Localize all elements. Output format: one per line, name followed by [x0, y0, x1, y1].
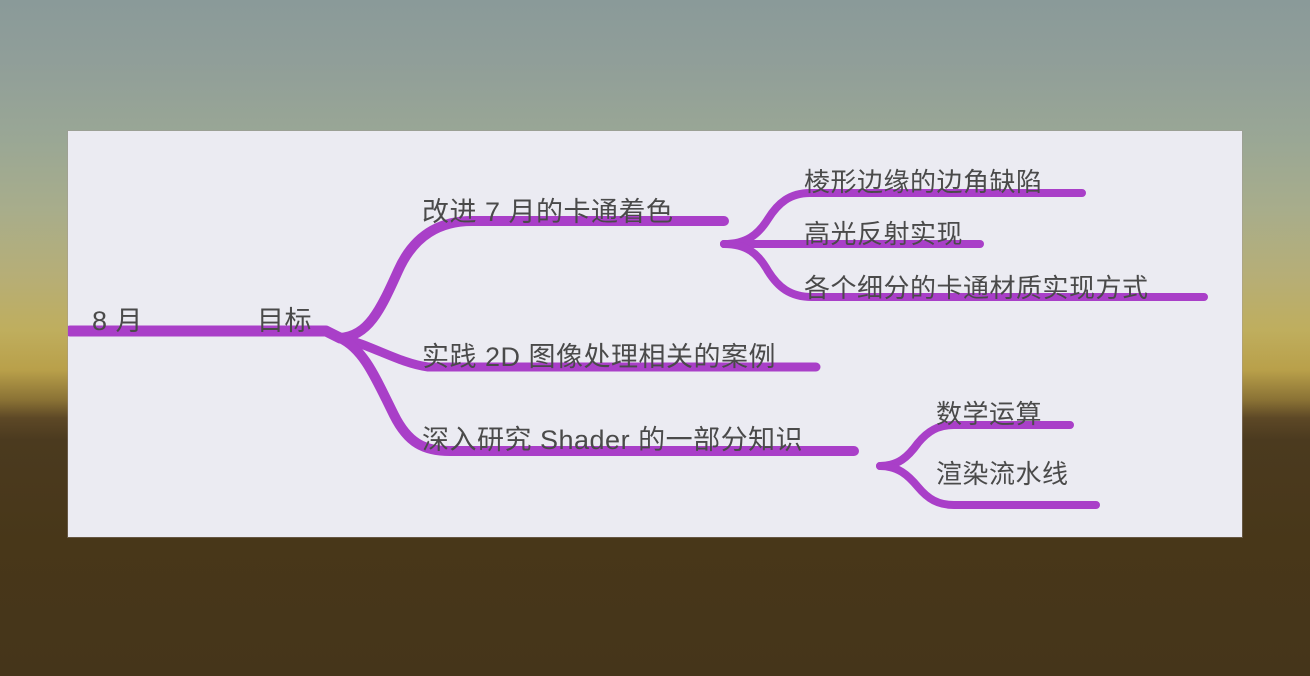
node-branch-1-child-1-label[interactable]: 棱形边缘的边角缺陷: [804, 169, 1043, 195]
node-branch-1-child-2-label[interactable]: 高光反射实现: [804, 221, 963, 247]
node-branch-1-label[interactable]: 改进 7 月的卡通着色: [422, 199, 674, 226]
node-root-label[interactable]: 8 月: [92, 308, 143, 335]
node-branch-2-label[interactable]: 实践 2D 图像处理相关的案例: [422, 344, 776, 371]
node-branch-3-label[interactable]: 深入研究 Shader 的一部分知识: [422, 427, 803, 454]
node-center-label[interactable]: 目标: [257, 308, 312, 335]
node-branch-1-child-3-label[interactable]: 各个细分的卡通材质实现方式: [804, 275, 1149, 301]
node-branch-3-child-2-label[interactable]: 渲染流水线: [936, 461, 1069, 487]
node-branch-3-child-1-label[interactable]: 数学运算: [936, 401, 1042, 427]
mindmap-panel: 8 月 目标 改进 7 月的卡通着色 棱形边缘的边角缺陷 高光反射实现 各个细分…: [68, 131, 1242, 537]
desktop-background: 8 月 目标 改进 7 月的卡通着色 棱形边缘的边角缺陷 高光反射实现 各个细分…: [0, 0, 1310, 676]
branch-to-node-1: [340, 221, 724, 338]
